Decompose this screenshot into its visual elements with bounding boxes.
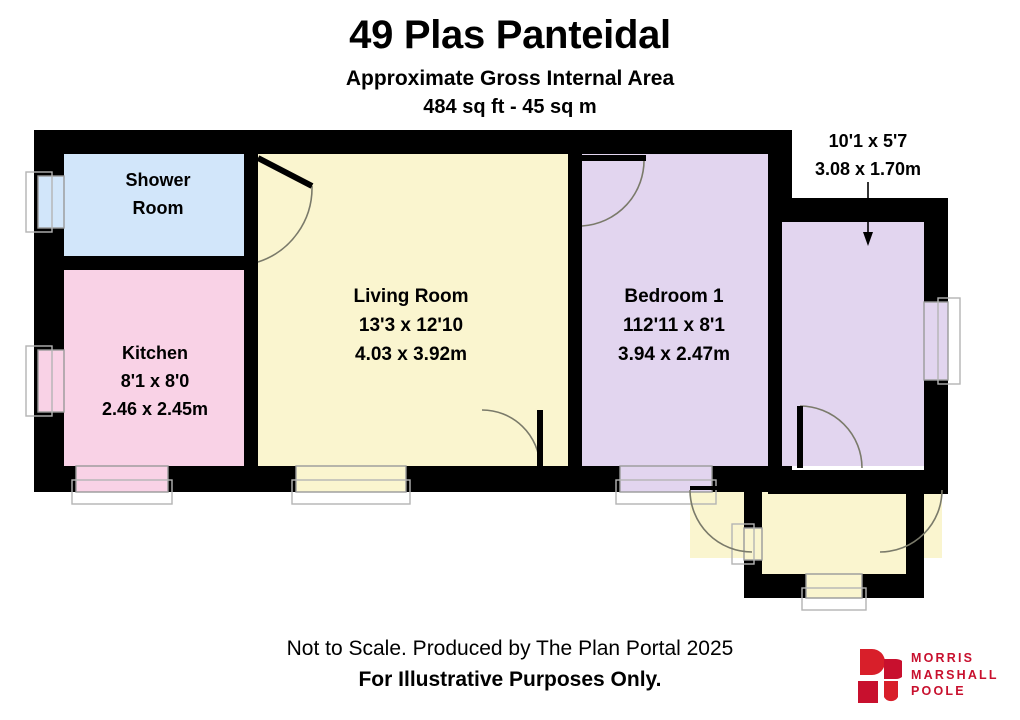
room-label-shower-room-line1: Shower [125,170,190,190]
room-fill-living-room [258,152,574,466]
room-label-living-room-metric: 4.03 x 3.92m [355,344,467,365]
gross-internal-area-label: Approximate Gross Internal Area [0,67,1020,91]
room-label-bedroom-1-metric: 3.94 x 2.47m [618,344,730,365]
logo-line-poole: POOLE [911,683,999,700]
room-label-kitchen-name: Kitchen [122,343,188,363]
floor-plan-page: 49 Plas Panteidal Approximate Gross Inte… [0,0,1020,720]
room-label-bedroom-2-metric: 3.08 x 1.70m [815,159,921,179]
plan-header: 49 Plas Panteidal Approximate Gross Inte… [0,14,1020,118]
room-fill-kitchen [64,270,250,466]
room-fill-bedroom-1 [582,152,768,466]
wall-top-right-wing [768,198,948,222]
page-title: 49 Plas Panteidal [0,14,1020,56]
room-label-bedroom-2-name: Bedroom 2 [821,122,915,123]
wall-divider-left-living [244,154,258,466]
window-bedroom-2-right [924,302,948,380]
wall-divider-shower-kitchen [64,256,258,270]
logo-wordmark: MORRIS MARSHALL POOLE [911,650,999,700]
wall-porch-right [906,474,924,584]
room-label-kitchen-metric: 2.46 x 2.45m [102,399,208,419]
wall-top-main [34,130,792,154]
window-kitchen-left [38,350,64,412]
room-label-living-room-imperial: 13'3 x 12'10 [359,315,463,336]
room-label-living-room-name: Living Room [353,286,468,307]
window-kitchen-bottom [76,466,168,492]
window-shower-room [38,176,64,228]
wall-divider-bed1-bed2 [768,222,782,470]
room-label-kitchen-imperial: 8'1 x 8'0 [121,371,190,391]
window-porch-bottom [806,574,862,598]
gross-internal-area-value: 484 sq ft - 45 sq m [0,96,1020,118]
room-label-bedroom-1-imperial: 112'11 x 8'1 [623,315,725,336]
room-label-bedroom-2-imperial: 10'1 x 5'7 [829,131,908,151]
room-label-shower-room-line2: Room [133,198,184,218]
room-label-bedroom-1-name: Bedroom 1 [624,286,724,307]
wall-divider-living-bed1 [568,154,582,466]
wall-right-main-upper [768,130,792,222]
floor-plan-canvas: Shower Room Kitchen 8'1 x 8'0 2.46 x 2.4… [0,122,1020,622]
morris-marshall-poole-logo[interactable]: MORRIS MARSHALL POOLE [858,644,1008,706]
window-living-room-bottom [296,466,406,492]
logo-line-marshall: MARSHALL [911,667,999,684]
logo-line-morris: MORRIS [911,650,999,667]
window-porch-left [744,528,762,560]
logo-mark-icon [858,647,902,703]
